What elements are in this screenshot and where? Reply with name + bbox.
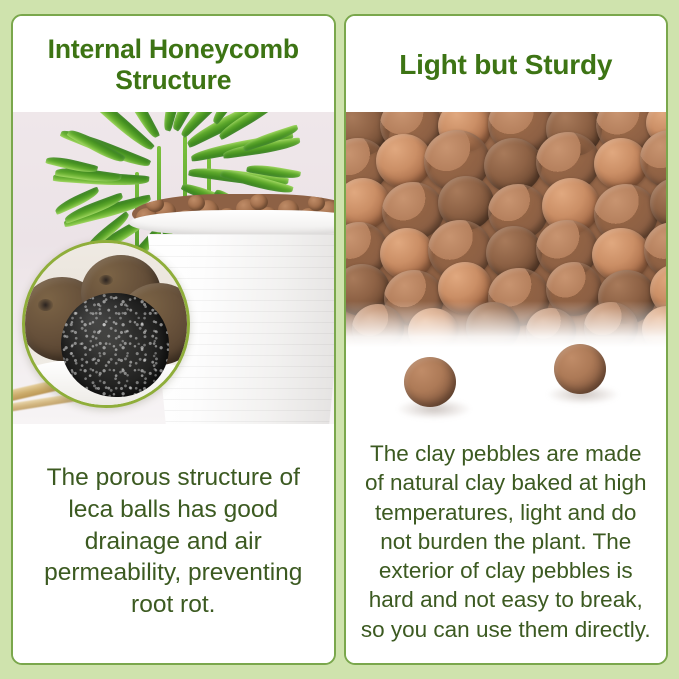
loose-pebble (404, 357, 456, 407)
clay-pebbles-pile-photo (346, 112, 667, 424)
pebbles-scene-background (346, 112, 667, 424)
caption-left: The porous structure of leca balls has g… (13, 424, 334, 663)
caption-right: The clay pebbles are made of natural cla… (346, 424, 667, 663)
panel-heading-right: Light but Sturdy (346, 16, 667, 112)
clay-pebble-pile (346, 112, 667, 347)
plant-scene-background (13, 112, 334, 424)
caption-text-right: The clay pebbles are made of natural cla… (360, 439, 653, 644)
page-title-right: Light but Sturdy (399, 49, 612, 81)
panel-internal-honeycomb-structure: Internal Honeycomb Structure (11, 14, 336, 665)
page-title-left: Internal Honeycomb Structure (23, 34, 324, 95)
pile-fade-overlay (346, 301, 667, 347)
honeycomb-pore-texture (61, 293, 169, 397)
potted-bamboo-palm-with-leca-photo (13, 112, 334, 424)
leca-cross-section-inset (22, 240, 190, 408)
caption-text-left: The porous structure of leca balls has g… (27, 462, 320, 621)
leca-ball-cut-open (61, 293, 169, 397)
panel-heading-left: Internal Honeycomb Structure (13, 16, 334, 112)
white-pot-rim (129, 210, 334, 236)
loose-pebble (554, 344, 606, 394)
panel-light-but-sturdy: Light but Sturdy (344, 14, 669, 665)
